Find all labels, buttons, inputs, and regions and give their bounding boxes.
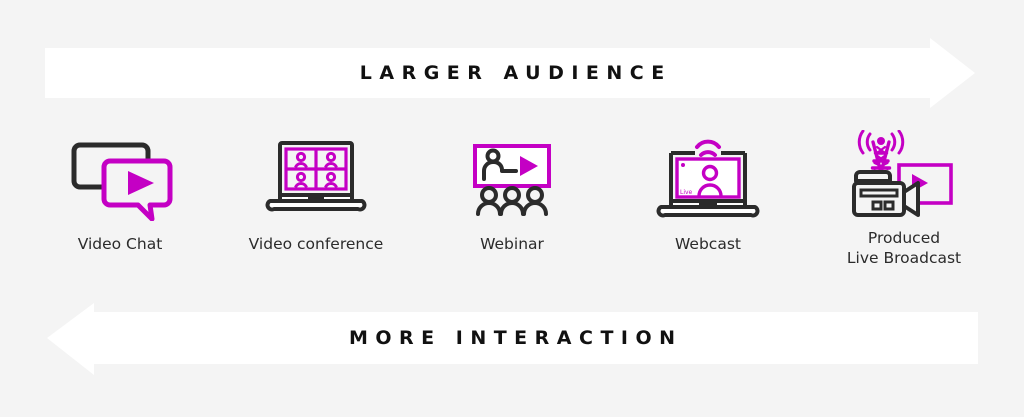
- larger-audience-banner: LARGER AUDIENCE: [0, 33, 1024, 113]
- produced-live-broadcast-icon: [844, 130, 964, 222]
- scale-of-video-formats-infographic: LARGER AUDIENCE Video Chat: [0, 0, 1024, 417]
- left-arrow-shape: [0, 298, 1024, 378]
- webcast-icon: Live: [649, 130, 767, 222]
- video-conference-icon: [260, 130, 372, 222]
- webinar-icon: [456, 130, 568, 222]
- format-label-video-conference: Video conference: [249, 234, 384, 254]
- format-item-video-chat[interactable]: Video Chat: [22, 130, 218, 254]
- format-label-produced-live-broadcast: Produced Live Broadcast: [847, 228, 961, 269]
- more-interaction-banner: MORE INTERACTION: [0, 298, 1024, 378]
- video-format-icon-row: Video Chat: [0, 130, 1024, 285]
- live-badge-text: Live: [680, 189, 693, 196]
- format-item-video-conference[interactable]: Video conference: [218, 130, 414, 254]
- video-chat-icon: [64, 130, 176, 222]
- format-label-webcast: Webcast: [675, 234, 741, 254]
- format-item-webinar[interactable]: Webinar: [414, 130, 610, 254]
- format-label-video-chat: Video Chat: [78, 234, 163, 254]
- format-item-produced-live-broadcast[interactable]: Produced Live Broadcast: [806, 130, 1002, 269]
- format-label-webinar: Webinar: [480, 234, 544, 254]
- right-arrow-shape: [0, 33, 1024, 113]
- format-item-webcast[interactable]: Live Webcast: [610, 130, 806, 254]
